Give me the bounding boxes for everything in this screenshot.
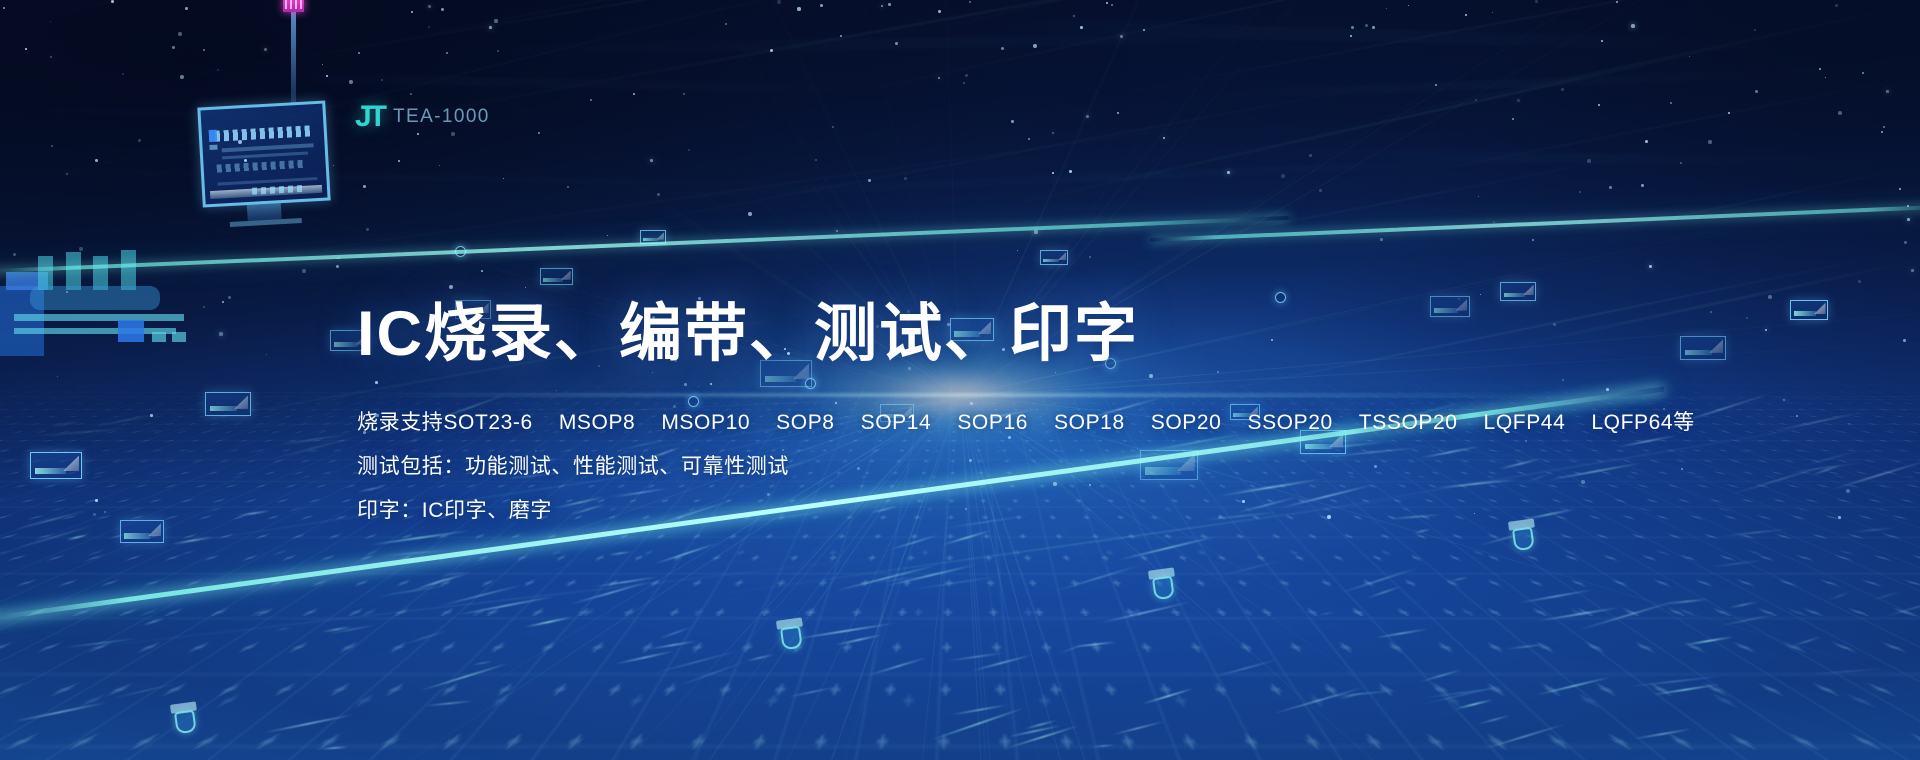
- particle: [1848, 423, 1850, 425]
- particle: [1465, 14, 1467, 16]
- particle: [138, 139, 141, 142]
- particle: [1319, 189, 1322, 192]
- particle: [1819, 68, 1821, 70]
- particle: [963, 82, 965, 84]
- particle: [358, 52, 360, 54]
- jt-logo-mark: JT: [355, 100, 384, 134]
- particle: [969, 1, 971, 3]
- particle: [538, 132, 540, 134]
- particle: [1435, 84, 1437, 86]
- particle: [238, 140, 242, 144]
- particle: [264, 48, 267, 51]
- particle: [1073, 15, 1075, 17]
- particle: [840, 35, 842, 37]
- particle: [725, 23, 727, 25]
- package-tssop20: TSSOP20: [1359, 401, 1458, 445]
- particle: [1350, 35, 1352, 37]
- particle: [1512, 118, 1514, 120]
- particle: [1089, 256, 1091, 258]
- particle: [525, 287, 526, 288]
- particle: [1609, 186, 1612, 189]
- particle: [1517, 99, 1520, 102]
- particle: [1478, 196, 1479, 197]
- particle: [481, 270, 483, 272]
- particle: [381, 79, 383, 81]
- particle: [1649, 265, 1652, 268]
- particle: [244, 159, 247, 162]
- particle: [51, 145, 53, 147]
- particle: [820, 4, 823, 7]
- particle: [1768, 295, 1772, 299]
- particle: [1587, 159, 1591, 163]
- particle: [1351, 26, 1354, 29]
- particle: [1886, 90, 1889, 93]
- particle: [1911, 269, 1914, 272]
- particle: [302, 269, 306, 273]
- particle: [938, 77, 940, 79]
- particle: [1001, 47, 1004, 50]
- particle: [1904, 241, 1907, 244]
- particle: [1408, 5, 1409, 6]
- particle: [683, 93, 685, 95]
- particle: [797, 7, 801, 11]
- particle: [1835, 4, 1838, 7]
- particle: [1052, 172, 1054, 174]
- particle: [172, 46, 175, 49]
- particle: [1631, 24, 1635, 28]
- particle: [688, 149, 690, 151]
- particle: [836, 230, 838, 232]
- particle: [1561, 88, 1564, 91]
- particle: [1783, 399, 1785, 401]
- particle: [1710, 311, 1712, 313]
- particle: [1365, 24, 1368, 27]
- particle: [1017, 250, 1018, 251]
- particle: [439, 165, 440, 166]
- particle: [1903, 339, 1906, 342]
- particle: [1011, 120, 1014, 123]
- particle: [888, 3, 891, 6]
- particle: [122, 73, 124, 75]
- particle: [1796, 415, 1798, 417]
- particle: [650, 159, 653, 162]
- particle: [3, 7, 5, 9]
- particle: [1598, 104, 1600, 106]
- package-sop16: SOP16: [957, 401, 1028, 445]
- particle: [185, 7, 188, 10]
- particle: [203, 306, 205, 308]
- particle: [428, 26, 430, 28]
- particle: [1492, 12, 1493, 13]
- particle: [1117, 112, 1119, 114]
- particle: [1069, 170, 1072, 173]
- particle: [1386, 8, 1387, 9]
- particle: [633, 93, 635, 95]
- particle: [1480, 294, 1481, 295]
- hero-headline: IC烧录、编带、测试、印字: [357, 300, 1597, 369]
- particle: [815, 159, 817, 161]
- particle: [326, 75, 328, 77]
- particle: [1120, 35, 1123, 38]
- particle: [111, 0, 114, 3]
- particle: [1708, 140, 1712, 144]
- equipment-brand: JT TEA-1000: [355, 100, 490, 134]
- particle: [1899, 188, 1901, 190]
- particle: [1227, 171, 1230, 174]
- particle: [503, 178, 504, 179]
- particle: [567, 186, 569, 188]
- particle: [1606, 388, 1609, 391]
- particle: [93, 513, 96, 516]
- particle: [1052, 132, 1054, 134]
- hero-content: IC烧录、编带、测试、印字 烧录支持SOT23-6MSOP8MSOP10SOP8…: [357, 300, 1597, 533]
- particle: [494, 19, 498, 23]
- particle: [322, 64, 323, 65]
- particle: [1641, 184, 1644, 187]
- particle: [770, 49, 773, 52]
- particle: [338, 257, 340, 259]
- particle: [1380, 238, 1383, 241]
- particle: [1755, 90, 1758, 93]
- particle: [449, 285, 453, 289]
- particle: [180, 75, 184, 79]
- package-sop20: SOP20: [1151, 401, 1222, 445]
- particle: [1681, 468, 1683, 470]
- particle: [333, 165, 334, 166]
- particle: [489, 26, 492, 29]
- particle: [1111, 4, 1113, 6]
- particle: [1532, 239, 1534, 241]
- package-lqfp64: LQFP64等: [1591, 401, 1694, 445]
- particle: [895, 42, 898, 45]
- package-sop18: SOP18: [1054, 401, 1125, 445]
- particle: [1616, 1, 1618, 3]
- particle: [336, 265, 339, 268]
- particle: [1746, 317, 1748, 319]
- particle: [366, 228, 369, 231]
- particle: [95, 499, 98, 502]
- particle: [25, 48, 27, 50]
- particle: [1825, 77, 1826, 78]
- package-sot23-6: SOT23-6: [443, 401, 532, 445]
- particle: [1163, 137, 1165, 139]
- particle: [66, 173, 68, 175]
- particle: [446, 52, 448, 54]
- particle: [1645, 140, 1648, 143]
- particle: [1372, 26, 1375, 29]
- particle: [777, 0, 781, 4]
- particle: [50, 56, 52, 58]
- particle: [881, 5, 883, 7]
- particle: [1858, 280, 1861, 283]
- particle: [1907, 205, 1909, 207]
- particle: [266, 354, 267, 355]
- particle: [410, 93, 412, 95]
- particle: [57, 376, 58, 377]
- particle: [1846, 489, 1850, 493]
- package-msop10: MSOP10: [661, 401, 750, 445]
- particle: [868, 179, 871, 182]
- particle: [428, 5, 431, 8]
- particle: [1728, 112, 1730, 114]
- particle: [832, 126, 834, 128]
- particle: [590, 99, 592, 101]
- particle: [938, 10, 941, 13]
- package-msop8: MSOP8: [559, 401, 636, 445]
- particle: [607, 235, 608, 236]
- particle: [219, 332, 223, 336]
- hero-subtext-list: 烧录支持SOT23-6MSOP8MSOP10SOP8SOP14SOP16SOP1…: [357, 401, 1597, 533]
- particle: [1106, 2, 1108, 4]
- hero-banner: JT TEA-1000 IC烧录、编带、测试、印字 烧录支持SOT23-6MSO…: [0, 0, 1920, 760]
- particle: [104, 511, 106, 513]
- particle: [657, 193, 660, 196]
- particle: [1754, 29, 1756, 31]
- package-sop8: SOP8: [776, 401, 834, 445]
- particle: [1881, 131, 1883, 133]
- particle: [1862, 72, 1864, 74]
- particle: [217, 69, 219, 71]
- particle: [1838, 516, 1841, 519]
- particle: [1907, 218, 1910, 221]
- subline-testing: 测试包括：功能测试、性能测试、可靠性测试: [357, 445, 1597, 489]
- particle: [349, 80, 353, 84]
- particle: [1028, 138, 1030, 140]
- particle: [965, 74, 968, 77]
- particle: [50, 21, 51, 22]
- particle: [1680, 162, 1682, 164]
- particle: [363, 185, 366, 188]
- particle: [1838, 111, 1842, 115]
- package-sop14: SOP14: [861, 401, 932, 445]
- particle: [1670, 102, 1672, 104]
- particle: [1601, 40, 1603, 42]
- particle: [79, 247, 83, 251]
- particle: [398, 160, 400, 162]
- particle: [441, 8, 444, 11]
- particle: [1309, 154, 1312, 157]
- particle: [1033, 44, 1037, 48]
- particle: [150, 414, 153, 417]
- particle: [1086, 115, 1089, 118]
- particle: [1765, 329, 1767, 331]
- package-lqfp44: LQFP44: [1484, 401, 1566, 445]
- particle: [13, 253, 16, 256]
- particle: [904, 177, 907, 180]
- particle: [1080, 26, 1083, 29]
- particle: [1883, 126, 1885, 128]
- particle: [1475, 99, 1477, 101]
- particle: [222, 301, 224, 303]
- particle: [1535, 0, 1538, 3]
- equipment-model-label: TEA-1000: [393, 106, 490, 128]
- particle: [1493, 221, 1495, 223]
- particle: [1143, 29, 1145, 31]
- particle: [1579, 191, 1581, 193]
- package-list: SOT23-6MSOP8MSOP10SOP8SOP14SOP16SOP18SOP…: [443, 411, 1694, 434]
- particle: [178, 32, 182, 36]
- particle: [497, 50, 499, 52]
- particle: [95, 159, 98, 162]
- burn-support-prefix: 烧录支持: [357, 401, 443, 445]
- subline-marking: 印字：IC印字、磨字: [357, 489, 1597, 533]
- particle: [203, 49, 205, 51]
- particle: [411, 11, 413, 13]
- particle: [748, 212, 752, 216]
- particle: [1689, 56, 1690, 57]
- particle: [1281, 174, 1285, 178]
- particle: [1034, 230, 1038, 234]
- package-ssop20: SSOP20: [1247, 401, 1332, 445]
- particle: [66, 291, 68, 293]
- particle: [228, 296, 231, 299]
- subline-burn-support: 烧录支持SOT23-6MSOP8MSOP10SOP8SOP14SOP16SOP1…: [357, 401, 1597, 445]
